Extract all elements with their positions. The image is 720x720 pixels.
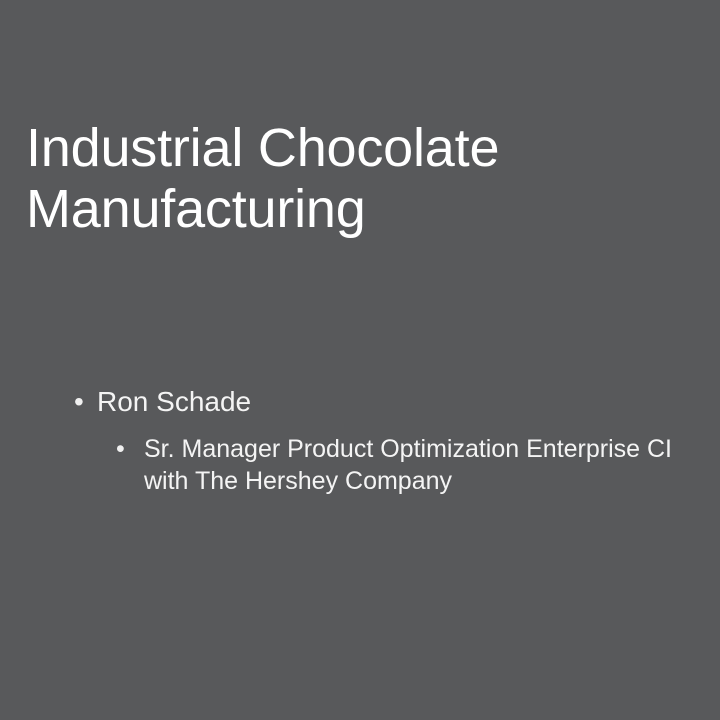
- slide-body-placeholder[interactable]: • Ron Schade • Sr. Manager Product Optim…: [70, 384, 700, 497]
- page-title: Industrial Chocolate Manufacturing: [26, 118, 666, 240]
- bullet-dot-icon: •: [116, 433, 144, 465]
- slide-title-placeholder[interactable]: Industrial Chocolate Manufacturing: [26, 118, 666, 240]
- list-item[interactable]: • Sr. Manager Product Optimization Enter…: [116, 433, 700, 497]
- sub-list: • Sr. Manager Product Optimization Enter…: [116, 433, 700, 497]
- list-item-label: Ron Schade: [97, 384, 700, 419]
- list-item-label: Sr. Manager Product Optimization Enterpr…: [144, 433, 692, 497]
- presentation-slide: Industrial Chocolate Manufacturing • Ron…: [0, 0, 720, 720]
- list-item[interactable]: • Ron Schade: [70, 384, 700, 419]
- bullet-dot-icon: •: [70, 384, 97, 419]
